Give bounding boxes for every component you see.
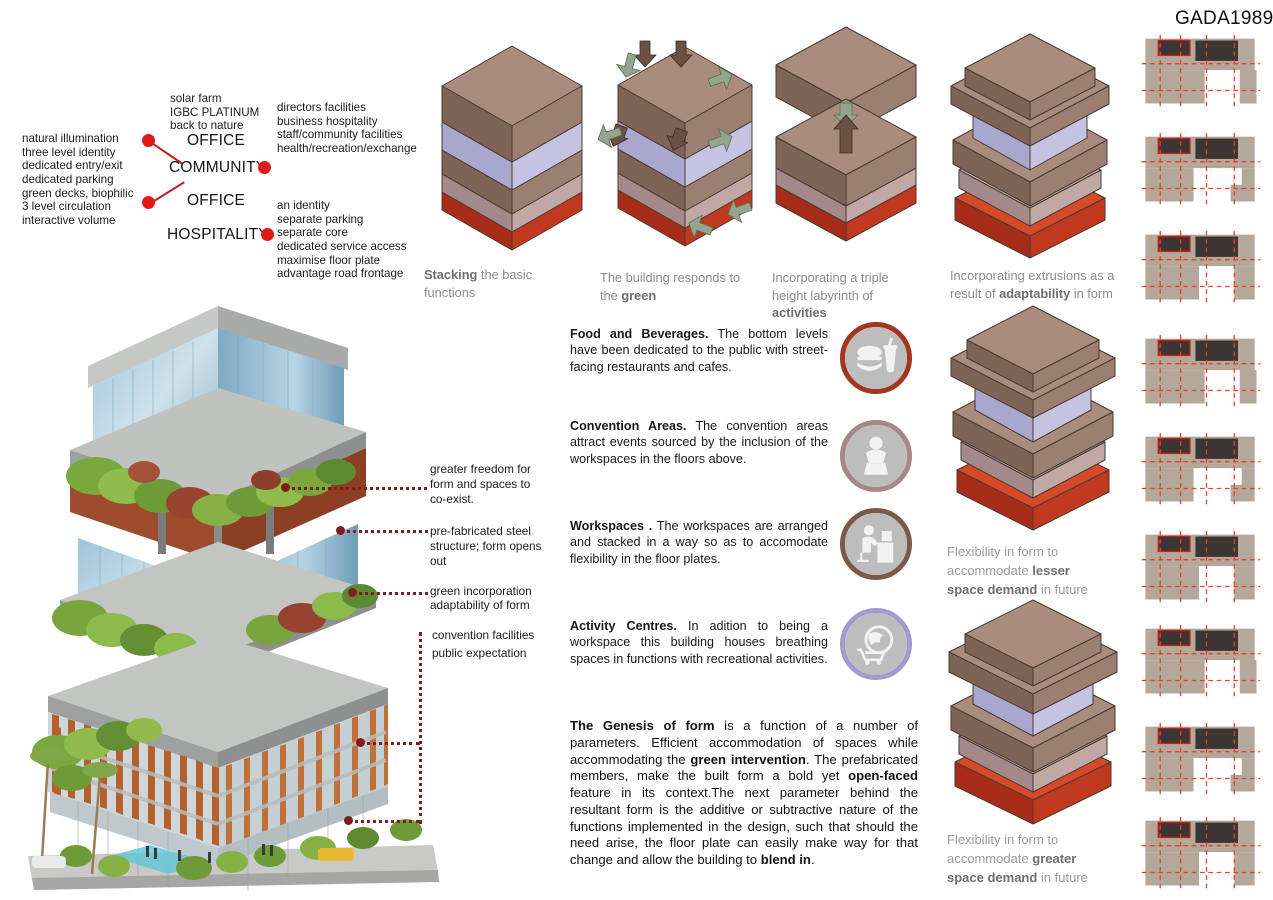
bubble-right-notes-lower: an identity separate parking separate co…: [277, 199, 427, 281]
leader-line-5: [348, 820, 420, 823]
caption-labyrinth-pre: Incorporating a triple height labyrinth …: [772, 270, 889, 302]
genesis-seg-0: The Genesis of form: [570, 718, 715, 733]
floor-plan-3: [1138, 226, 1263, 310]
floor-plan-7: [1138, 620, 1263, 704]
bubble-right-notes-upper: directors facilities business hospitalit…: [277, 101, 427, 156]
block-workspaces-heading: Workspaces .: [570, 519, 652, 533]
bubble-dot-office-top: [142, 134, 155, 147]
floor-plan-1: [1138, 30, 1263, 114]
burger-drink-icon: [853, 335, 899, 381]
leader-line-3: [352, 592, 428, 595]
callout-convention-facilities: convention facilities: [432, 628, 562, 643]
massing-diagram-stacking: [432, 42, 602, 247]
genesis-paragraph: The Genesis of form is a function of a n…: [570, 718, 918, 869]
building-render: [18, 300, 443, 890]
bubble-node-office-top: OFFICE: [187, 132, 245, 150]
floor-plan-5: [1138, 428, 1263, 512]
globe-cart-icon-badge: [840, 608, 912, 680]
flexibility-caption-lesser: Flexibility in form to accommodate lesse…: [947, 524, 1127, 599]
floor-plan-9: [1138, 812, 1263, 896]
caption-stacking-bold: Stacking: [424, 267, 477, 282]
genesis-seg-6: blend in: [761, 852, 811, 867]
caption-green-response: The building responds to the green: [600, 252, 755, 304]
floor-plan-4: [1138, 330, 1263, 414]
desk-worker-icon-badge: [840, 508, 912, 580]
desk-worker-icon: [853, 521, 899, 567]
callout-greater-freedom: greater freedom for form and spaces to c…: [430, 462, 545, 507]
block-activity-heading: Activity Centres.: [570, 619, 677, 633]
podium-speaker-icon: [853, 433, 899, 479]
bubble-dot-community: [258, 161, 271, 174]
genesis-seg-7: .: [811, 852, 815, 867]
genesis-seg-2: green intervention: [690, 752, 805, 767]
leader-line-2: [340, 530, 428, 533]
leader-dot-1: [281, 483, 290, 492]
leader-dot-4: [356, 738, 365, 747]
board-title: GADA1989: [1175, 8, 1273, 30]
callout-adaptability-of-form: adaptability of form: [430, 598, 550, 613]
caption-extrusions-bold: adaptability: [999, 286, 1070, 301]
block-food-heading: Food and Beverages.: [570, 327, 709, 341]
massing-diagram-extrusions: [945, 30, 1125, 250]
caption-extrusions: Incorporating extrusions as a result of …: [950, 250, 1130, 302]
callout-green-incorporation: green incorporation: [430, 584, 550, 599]
massing-diagram-labyrinth: [768, 25, 938, 250]
bubble-dot-office-bottom: [142, 196, 155, 209]
globe-cart-icon: [853, 621, 899, 667]
genesis-seg-5: feature in its context.The next paramete…: [570, 785, 918, 867]
bubble-dot-hospitality: [261, 228, 274, 241]
presentation-board: GADA1989 natural illumination three leve…: [0, 0, 1273, 900]
massing-diagram-green-response: [600, 35, 775, 250]
caption-stacking: Stacking the basic functions: [424, 249, 584, 301]
caption-green-bold: green: [621, 288, 656, 303]
flexibility-diagram-lesser: [945, 300, 1130, 525]
block-activity-centres: Activity Centres. In adition to being a …: [570, 618, 828, 667]
flexcap-lesser-post: in future: [1037, 582, 1088, 597]
block-convention-heading: Convention Areas.: [570, 419, 687, 433]
block-workspaces: Workspaces . The workspaces are arranged…: [570, 518, 828, 567]
bubble-node-office-bottom: OFFICE: [187, 192, 245, 210]
callout-public-expectation: public expectation: [432, 646, 562, 661]
caption-labyrinth-bold: activities: [772, 305, 827, 320]
bubble-left-notes: natural illumination three level identit…: [22, 132, 147, 228]
leader-dot-5: [344, 816, 353, 825]
floor-plan-8: [1138, 718, 1263, 802]
leader-dot-2: [336, 526, 345, 535]
floor-plan-2: [1138, 128, 1263, 212]
block-food-and-beverages: Food and Beverages. The bottom levels ha…: [570, 326, 828, 375]
leader-line-4: [360, 742, 420, 745]
block-convention-areas: Convention Areas. The convention areas a…: [570, 418, 828, 467]
caption-labyrinth: Incorporating a triple height labyrinth …: [772, 252, 922, 321]
flexibility-diagram-greater: [945, 600, 1130, 815]
leader-line-vertical: [419, 632, 422, 824]
bubble-node-hospitality: HOSPITALITY: [167, 226, 269, 244]
bubble-node-community: COMMUNITY: [169, 159, 266, 177]
caption-extrusions-tail: in form: [1070, 286, 1113, 301]
flexibility-caption-greater: Flexibility in form to accommodate great…: [947, 812, 1137, 887]
floor-plan-6: [1138, 526, 1263, 610]
callout-prefab-steel: pre-fabricated steel structure; form ope…: [430, 524, 548, 569]
leader-dot-3: [348, 588, 357, 597]
genesis-seg-4: open-faced: [848, 768, 918, 783]
flexcap-greater-post: in future: [1037, 870, 1088, 885]
podium-speaker-icon-badge: [840, 420, 912, 492]
burger-drink-icon-badge: [840, 322, 912, 394]
leader-line-1: [285, 487, 427, 490]
